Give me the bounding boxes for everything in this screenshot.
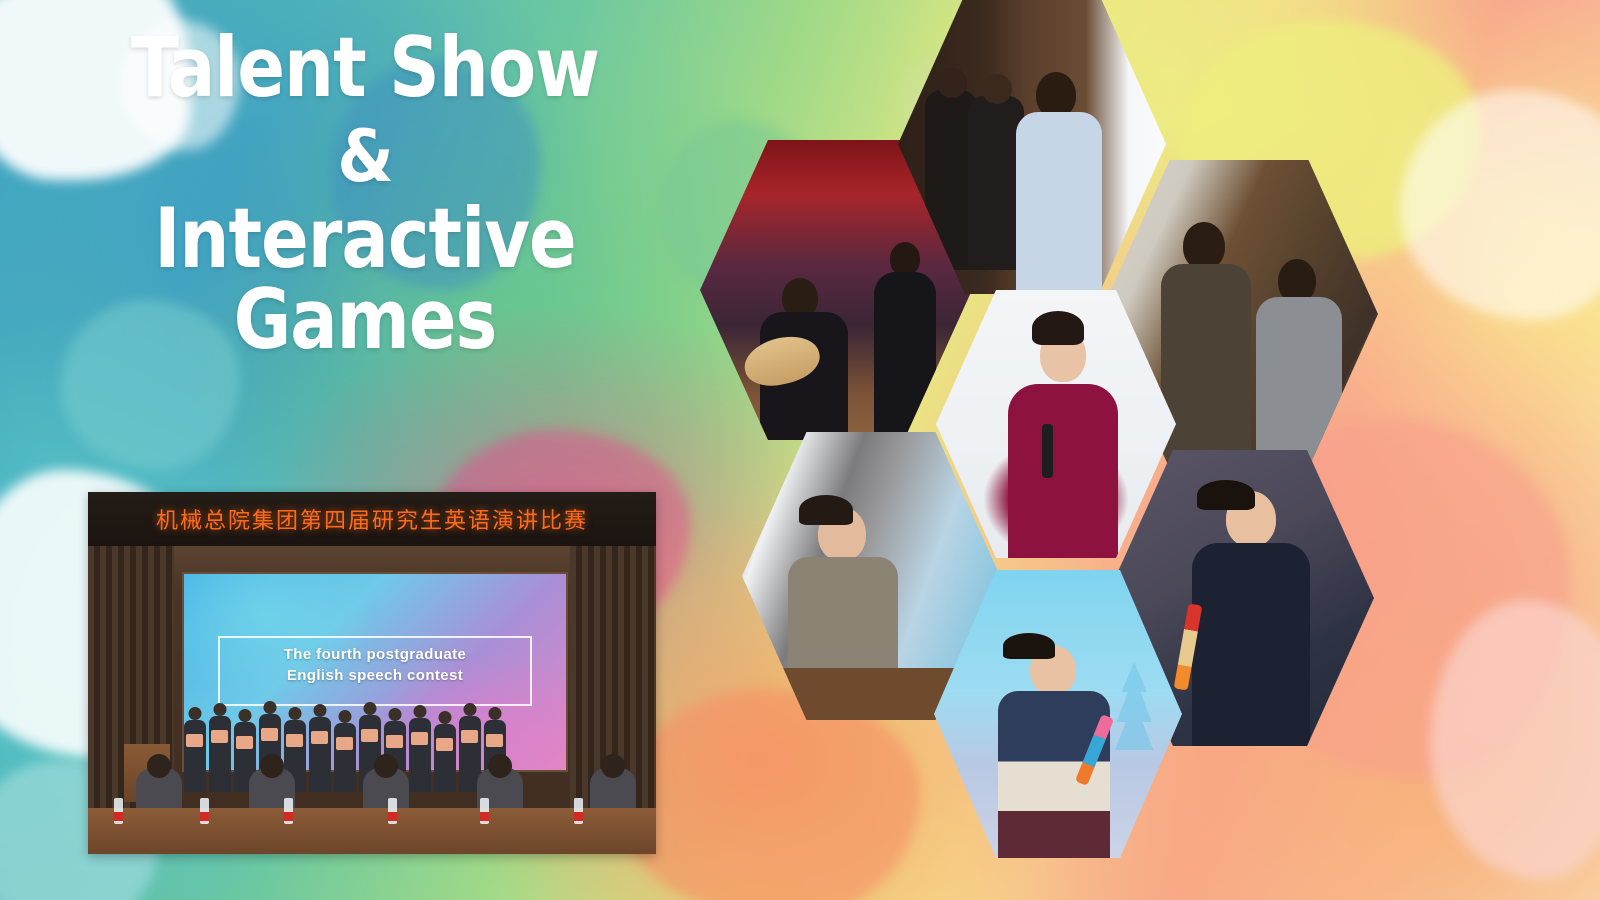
man-with-glasses-figure [1161, 222, 1251, 456]
player-hair [1003, 633, 1055, 659]
water-bottle [388, 798, 397, 824]
led-banner-text: 机械总院集团第四届研究生英语演讲比赛 [156, 503, 588, 535]
headline-ampersand: & [70, 122, 660, 191]
led-banner: 机械总院集团第四届研究生英语演讲比赛 [88, 492, 656, 546]
woman-figure [1008, 328, 1118, 553]
singer-hair [1197, 480, 1255, 510]
water-bottle [480, 798, 489, 824]
speaker-hair [799, 495, 853, 525]
man-with-mic-figure [1256, 259, 1342, 462]
speech-contest-photo: 机械总院集团第四届研究生英语演讲比赛 The fourth postgradua… [88, 492, 656, 854]
handheld-microphone [1042, 424, 1053, 478]
male-singer-figure [1016, 72, 1102, 294]
auditorium-stage: The fourth postgraduate English speech c… [88, 546, 656, 854]
headline-line-1: Talent Show [88, 28, 643, 108]
water-bottle [114, 798, 123, 824]
screen-title-line-2: English speech contest [184, 667, 566, 684]
screen-title-line-1: The fourth postgraduate [184, 646, 566, 663]
headline-line-3: Interactive [88, 199, 643, 279]
woman-hair-bun [1032, 311, 1084, 345]
water-bottle [200, 798, 209, 824]
backdrop-pine-tree [1111, 662, 1157, 750]
singer-figure [1192, 491, 1310, 740]
pink-splash-corner [1430, 600, 1600, 880]
female-singer-figure [874, 242, 936, 434]
water-bottle [574, 798, 583, 824]
water-bottle [284, 798, 293, 824]
orange-splash-center [620, 690, 920, 900]
poster-canvas: Talent Show & Interactive Games 机械总院集团第四… [0, 0, 1600, 900]
judges-table [88, 808, 656, 854]
headline-line-4: Games [88, 280, 643, 360]
white-splash-right [1400, 90, 1600, 320]
poster-headline: Talent Show & Interactive Games [70, 28, 660, 360]
